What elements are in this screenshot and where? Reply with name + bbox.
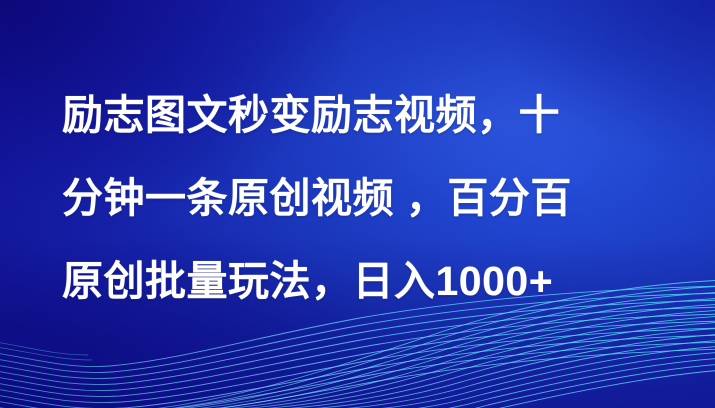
headline-block: 励志图文秒变励志视频，十 分钟一条原创视频 ，百分百 原创批量玩法，日入1000…: [0, 0, 715, 408]
headline-line-1: 励志图文秒变励志视频，十: [0, 74, 715, 157]
headline-line-3: 原创批量玩法，日入1000+: [0, 240, 715, 323]
promo-banner: 励志图文秒变励志视频，十 分钟一条原创视频 ，百分百 原创批量玩法，日入1000…: [0, 0, 715, 408]
headline-line-2: 分钟一条原创视频 ，百分百: [0, 157, 715, 240]
